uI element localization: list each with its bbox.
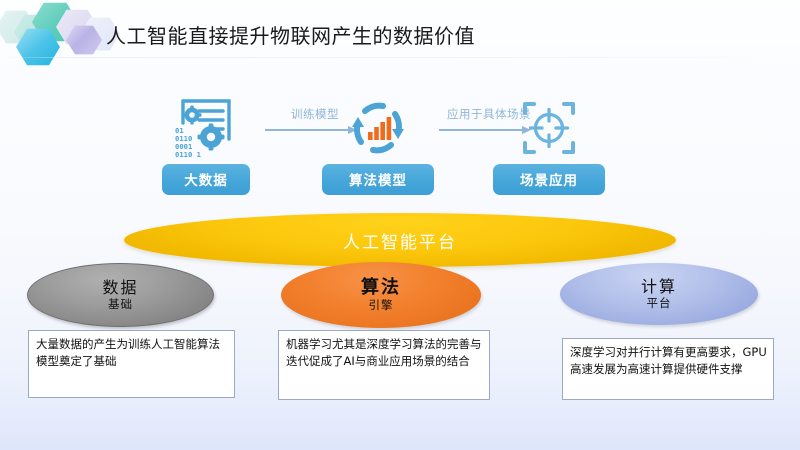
svg-text:0110 1: 0110 1	[175, 150, 201, 159]
pillar-caption-algorithm: 机器学习尤其是深度学习算法的完善与迭代促成了AI与商业应用场景的结合	[278, 330, 490, 400]
ai-platform-band[interactable]: 人工智能平台	[124, 213, 676, 267]
pillar-ellipse-algorithm[interactable]: 算法 引擎	[281, 262, 481, 328]
flow-stage-algorithm-model: 算法模型	[322, 92, 434, 195]
target-focus-icon	[493, 92, 605, 164]
pillar-subtitle: 平台	[647, 297, 672, 309]
pillar-title: 算法	[361, 279, 401, 298]
data-document-gears-icon: 01 0110 0001 0110 1	[150, 92, 262, 164]
refresh-bar-chart-icon	[322, 92, 434, 164]
pillar-ellipse-data[interactable]: 数据 基础	[27, 263, 214, 327]
flow-stage-scenario-application: 场景应用	[493, 92, 605, 195]
pillar-title: 数据	[102, 280, 138, 297]
page-title: 人工智能直接提升物联网产生的数据价值	[106, 20, 475, 49]
ai-platform-label: 人工智能平台	[124, 213, 676, 267]
flow-chip-algorithm-model[interactable]: 算法模型	[322, 164, 434, 195]
flow-chip-scenario-application[interactable]: 场景应用	[493, 164, 605, 195]
pillar-caption-data: 大量数据的产生为训练人工智能算法模型奠定了基础	[28, 330, 235, 398]
pillar-caption-computing: 深度学习对并行计算有更高要求，GPU高速发展为高速计算提供硬件支撑	[562, 338, 774, 400]
slide-canvas: 人工智能直接提升物联网产生的数据价值	[0, 0, 800, 450]
pillar-subtitle: 基础	[108, 298, 133, 310]
pillar-title: 计算	[641, 279, 677, 296]
flow-chip-big-data[interactable]: 大数据	[162, 164, 250, 195]
flow-stage-big-data: 01 0110 0001 0110 1 大数据	[150, 92, 262, 195]
title-divider	[0, 57, 800, 58]
pillar-subtitle: 引擎	[369, 299, 394, 311]
process-flow: 01 0110 0001 0110 1 大数据 训练模型	[150, 92, 605, 207]
pillar-ellipse-computing[interactable]: 计算 平台	[560, 263, 758, 325]
